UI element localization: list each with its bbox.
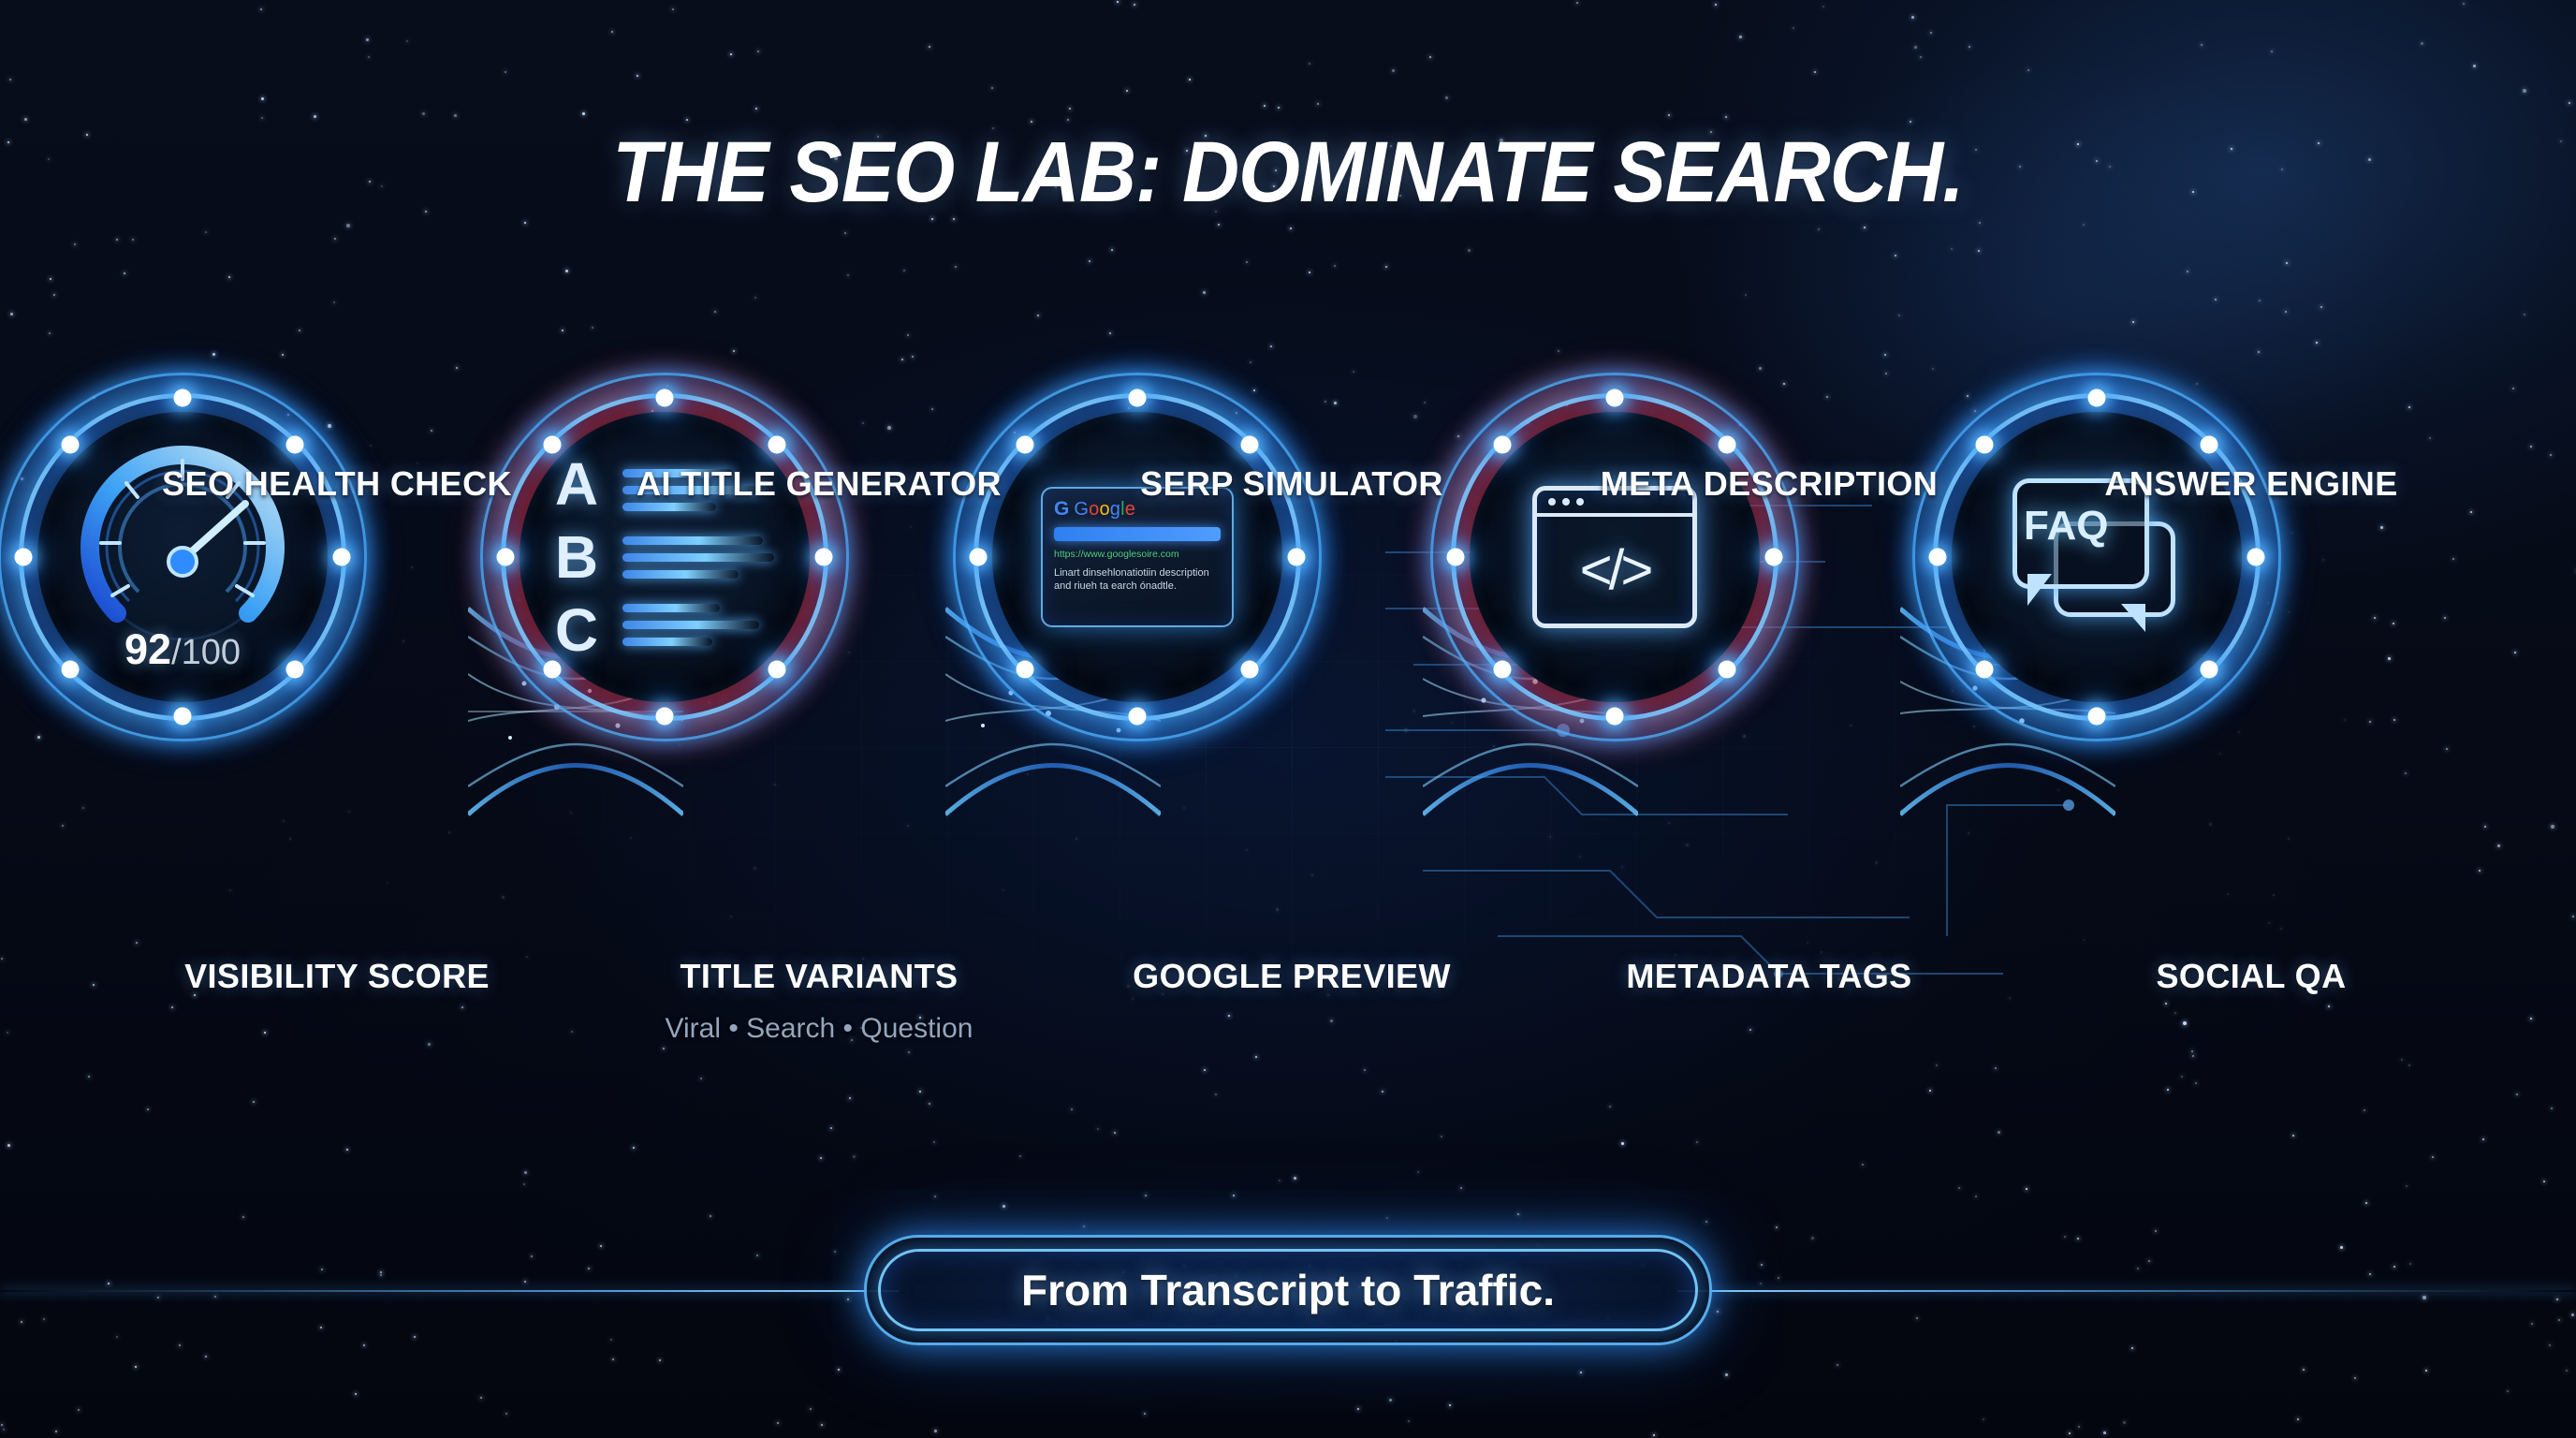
node-bottom-label-visibility-score: VISIBILITY SCORE <box>184 957 490 996</box>
serp-description-line-1: Linart dinsehlonatiotiin description <box>1054 566 1221 580</box>
node-bottom-label-title-variants: TITLE VARIANTS <box>681 957 959 996</box>
window-dot <box>1576 498 1584 506</box>
code-glyph: </> <box>1537 517 1692 622</box>
title-variant-letter-a: A <box>555 454 598 514</box>
node-top-label-ai-title-generator: AI TITLE GENERATOR <box>637 464 1002 504</box>
title-line-group <box>622 604 774 646</box>
node-top-label-seo-health-check: SEO HEALTH CHECK <box>162 464 512 504</box>
google-serp-card-icon: G Google https://www.googlesoire.com Lin… <box>1041 487 1234 627</box>
node-sub-label-title-variants: Viral • Search • Question <box>666 1013 973 1045</box>
tagline-text: From Transcript to Traffic. <box>1021 1265 1555 1315</box>
serp-title-bar <box>1054 527 1221 541</box>
pipeline-node-serp-simulator[interactable]: G Google https://www.googlesoire.com Lin… <box>1137 557 1446 866</box>
pipeline-node-meta-description[interactable]: </> <box>1615 557 1924 866</box>
google-g-icon: G <box>1054 499 1069 519</box>
pipeline-row: 92/100 <box>0 0 2576 1438</box>
tagline-banner[interactable]: From Transcript to Traffic. <box>864 1235 1712 1345</box>
window-dot <box>1562 498 1570 506</box>
node-top-label-serp-simulator: SERP SIMULATOR <box>1140 464 1443 504</box>
title-line-group <box>622 536 774 579</box>
chat-bubble-front-tail <box>2027 574 2052 606</box>
chat-bubble-back-tail <box>2121 604 2145 632</box>
banner-rule-left <box>0 1290 899 1292</box>
node-bottom-label-google-preview: GOOGLE PREVIEW <box>1133 957 1451 996</box>
code-window-icon: </> <box>1532 486 1697 628</box>
serp-url: https://www.googlesoire.com <box>1054 549 1221 561</box>
pipeline-node-seo-health-check[interactable]: 92/100 <box>183 557 491 866</box>
node-top-label-answer-engine: ANSWER ENGINE <box>2104 464 2397 504</box>
pipeline-node-answer-engine[interactable]: FAQ <box>2097 557 2406 866</box>
title-variant-letter-c: C <box>555 600 598 660</box>
serp-description-line-2: and riueh ta earch ónadtle. <box>1054 580 1221 594</box>
node-bottom-label-metadata-tags: METADATA TAGS <box>1626 957 1911 996</box>
node-top-label-meta-description: META DESCRIPTION <box>1601 464 1938 504</box>
banner-rule-right <box>1677 1290 2576 1292</box>
title-variant-letter-b: B <box>555 527 598 587</box>
pipeline-node-ai-title-generator[interactable]: A B C <box>665 557 973 866</box>
node-bottom-label-social-qa: SOCIAL QA <box>2157 957 2347 996</box>
window-dot <box>1548 498 1556 506</box>
visibility-score-value: 92/100 <box>124 625 241 674</box>
faq-label: FAQ <box>2024 503 2108 550</box>
google-wordmark: Google <box>1074 500 1135 519</box>
seo-lab-infographic: THE SEO LAB: DOMINATE SEARCH. <box>0 0 2576 1438</box>
